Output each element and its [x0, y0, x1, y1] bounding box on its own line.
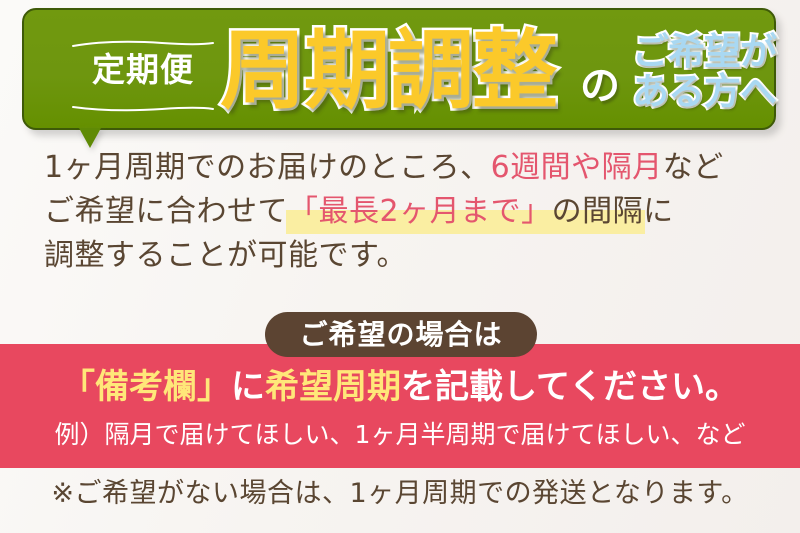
body-line-2-highlight: 「最長2ヶ月まで」の間隔	[288, 192, 643, 232]
header-banner: 定期便 周期調整 の ご希望が ある方へ	[22, 8, 776, 130]
instruction-band: 「備考欄」に希望周期を記載してください。 例）隔月で届けてほしい、1ヶ月半周期で…	[0, 344, 800, 468]
footer-note: ※ご希望がない場合は、1ヶ月周期での発送となります。	[0, 480, 800, 507]
body-line-2-highlight-accent: 「最長2ヶ月まで」	[288, 194, 552, 229]
promo-banner-page: 定期便 周期調整 の ご希望が ある方へ 1ヶ月周期でのお届けのところ、6週間や…	[0, 0, 800, 533]
body-line-3: 調整することが可能です。	[0, 236, 800, 280]
body-line-2-highlight-plain: の間隔	[552, 194, 644, 229]
subscription-badge-label: 定期便	[68, 53, 218, 86]
body-line-1-accent: 6週間や隔月	[491, 150, 663, 185]
speech-bubble-tail-icon	[79, 128, 101, 148]
instruction-accent-1: 「備考欄」	[61, 367, 231, 407]
body-line-2: ご希望に合わせて「最長2ヶ月まで」の間隔に	[0, 192, 800, 236]
body-line-1-pre: 1ヶ月周期でのお届けのところ、	[44, 150, 491, 185]
body-line-2-pre: ご希望に合わせて	[44, 194, 288, 229]
body-line-1-post: など	[663, 150, 724, 185]
header-subtitle-line-2: ある方へ	[632, 72, 792, 112]
header-title: 周期調整	[220, 28, 556, 114]
header-subtitle: ご希望が ある方へ	[632, 32, 792, 112]
instruction-accent-2: 希望周期	[265, 367, 401, 407]
wave-line-top-icon	[72, 40, 214, 49]
instruction-example-text: 例）隔月で届けてほしい、1ヶ月半周期で届けてほしい、など	[0, 422, 800, 447]
instruction-main-text: 「備考欄」に希望周期を記載してください。	[0, 370, 800, 404]
header-title-particle: の	[580, 66, 620, 106]
subscription-badge: 定期便	[68, 36, 218, 116]
body-line-2-post: に	[643, 194, 674, 229]
instruction-plain-1: に	[231, 367, 265, 407]
wave-line-bottom-icon	[72, 104, 214, 113]
body-paragraph: 1ヶ月周期でのお届けのところ、6週間や隔月など ご希望に合わせて「最長2ヶ月まで…	[0, 148, 800, 280]
body-line-1: 1ヶ月周期でのお届けのところ、6週間や隔月など	[0, 148, 800, 192]
header-subtitle-line-1: ご希望が	[632, 32, 792, 72]
request-case-pill: ご希望の場合は	[265, 312, 537, 357]
instruction-plain-2: を記載してください。	[401, 367, 739, 407]
